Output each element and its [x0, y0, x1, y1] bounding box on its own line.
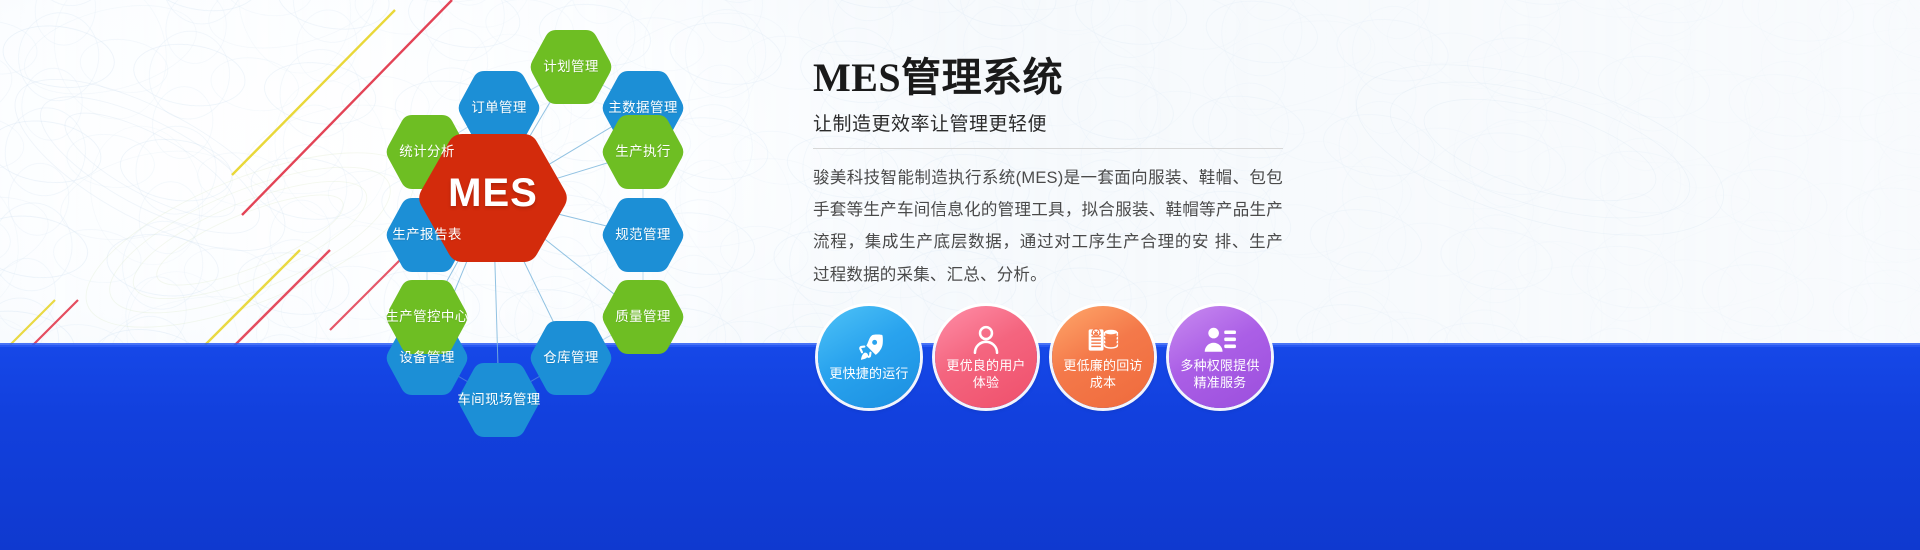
money-stack-icon: [1086, 323, 1120, 357]
hex-standard-management[interactable]: [603, 198, 684, 272]
hex-workshop-site-management[interactable]: [459, 363, 540, 437]
badge-faster-operation[interactable]: 更快捷的运行: [818, 306, 920, 408]
badge-faster-operation-label: 更快捷的运行: [823, 366, 914, 383]
badge-multi-permission-service-label: 多种权限提供精准服务: [1174, 358, 1265, 392]
mes-hex-diagram: 计划管理主数据管理生产执行规范管理质量管理仓库管理车间现场管理设备管理生产管控中…: [330, 8, 800, 438]
user-icon: [969, 323, 1003, 357]
headline-block: MES管理系统 让制造更效率让管理更轻便 骏美科技智能制造执行系统(MES)是一…: [813, 56, 1283, 291]
page-subtitle: 让制造更效率让管理更轻便: [813, 109, 1283, 136]
permissions-icon: [1203, 323, 1237, 357]
feature-badges: 更快捷的运行更优良的用户体验更低廉的回访成本多种权限提供精准服务: [818, 306, 1288, 416]
hex-diagram-svg: [330, 8, 800, 438]
mes-banner: 计划管理主数据管理生产执行规范管理质量管理仓库管理车间现场管理设备管理生产管控中…: [0, 0, 1920, 550]
badge-multi-permission-service[interactable]: 多种权限提供精准服务: [1169, 306, 1271, 408]
description-paragraph: 骏美科技智能制造执行系统(MES)是一套面向服装、鞋帽、包包手套等生产车间信息化…: [813, 162, 1283, 291]
hex-warehouse-management[interactable]: [531, 321, 612, 395]
divider: [813, 148, 1283, 149]
rocket-icon: [852, 331, 886, 365]
badge-better-user-experience-label: 更优良的用户体验: [940, 358, 1031, 392]
hex-shapes: [387, 30, 684, 437]
page-title: MES管理系统: [813, 56, 1283, 100]
badge-lower-followup-cost[interactable]: 更低廉的回访成本: [1052, 306, 1154, 408]
hex-order-management[interactable]: [459, 71, 540, 145]
hex-quality-management[interactable]: [603, 280, 684, 354]
hex-plan-management[interactable]: [531, 30, 612, 104]
badge-lower-followup-cost-label: 更低廉的回访成本: [1057, 358, 1148, 392]
badge-better-user-experience[interactable]: 更优良的用户体验: [935, 306, 1037, 408]
